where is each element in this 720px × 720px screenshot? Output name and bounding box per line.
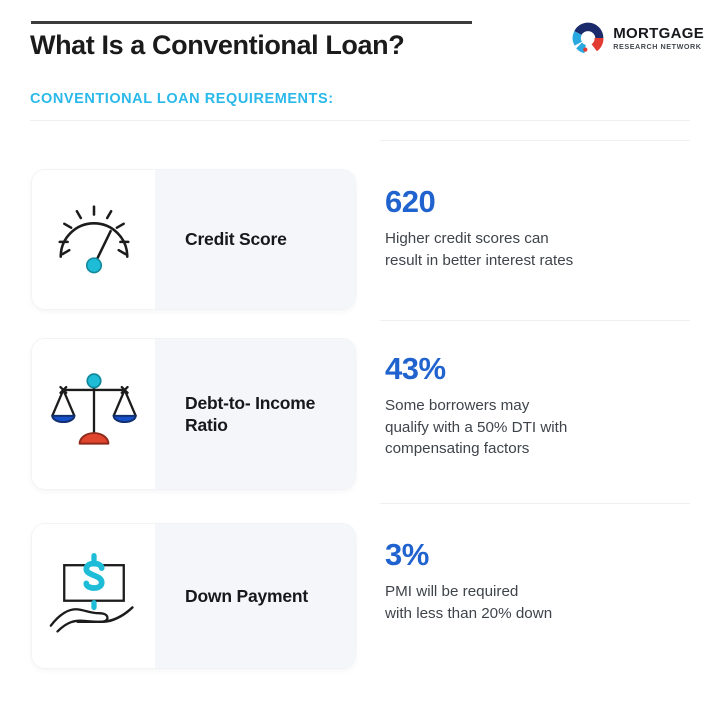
card-label-slot: Credit Score	[155, 170, 355, 309]
balance-scale-icon	[48, 366, 140, 463]
card-icon-slot	[32, 170, 155, 309]
row-divider	[380, 503, 690, 504]
title-top-rule	[31, 21, 472, 24]
requirement-row-credit-score: Credit Score 620 Higher credit scores ca…	[0, 140, 720, 320]
stat-description: PMI will be required with less than 20% …	[385, 581, 720, 624]
logo-wordmark: MORTGAGE RESEARCH NETWORK	[613, 26, 704, 50]
section-subtitle: CONVENTIONAL LOAN REQUIREMENTS:	[30, 91, 334, 107]
card-icon-slot	[32, 339, 155, 489]
requirement-row-down-payment: Down Payment 3% PMI will be required wit…	[0, 503, 720, 683]
requirement-stat-down-payment: 3% PMI will be required with less than 2…	[385, 535, 720, 624]
page-header: What Is a Conventional Loan? CONVENTIONA…	[0, 0, 720, 120]
stat-value: 3%	[385, 539, 720, 570]
requirement-label: Debt-to- Income Ratio	[185, 392, 355, 437]
hand-holding-cash-icon	[46, 552, 142, 641]
stat-value: 43%	[385, 353, 720, 384]
requirement-card-credit-score[interactable]: Credit Score	[32, 170, 355, 309]
requirement-label: Credit Score	[185, 228, 287, 250]
stat-description: Some borrowers may qualify with a 50% DT…	[385, 395, 720, 460]
row-divider	[380, 320, 690, 321]
header-divider	[30, 120, 690, 121]
requirement-card-down-payment[interactable]: Down Payment	[32, 524, 355, 668]
stat-description: Higher credit scores can result in bette…	[385, 228, 720, 271]
page-title: What Is a Conventional Loan?	[30, 30, 404, 61]
logo-name: MORTGAGE	[613, 26, 704, 41]
row-divider	[380, 140, 690, 141]
speedometer-gauge-icon	[49, 192, 139, 287]
requirement-row-dti: Debt-to- Income Ratio 43% Some borrowers…	[0, 320, 720, 503]
requirements-list: Credit Score 620 Higher credit scores ca…	[0, 140, 720, 683]
gauge-circle-logo-icon	[570, 20, 606, 56]
card-label-slot: Debt-to- Income Ratio	[155, 339, 355, 489]
requirement-stat-credit-score: 620 Higher credit scores can result in b…	[385, 182, 720, 271]
requirement-card-dti[interactable]: Debt-to- Income Ratio	[32, 339, 355, 489]
requirement-label: Down Payment	[185, 585, 308, 607]
stat-value: 620	[385, 186, 720, 217]
logo-tagline: RESEARCH NETWORK	[613, 43, 701, 50]
card-icon-slot	[32, 524, 155, 668]
brand-logo[interactable]: MORTGAGE RESEARCH NETWORK	[570, 20, 704, 56]
requirement-stat-dti: 43% Some borrowers may qualify with a 50…	[385, 349, 720, 460]
card-label-slot: Down Payment	[155, 524, 355, 668]
